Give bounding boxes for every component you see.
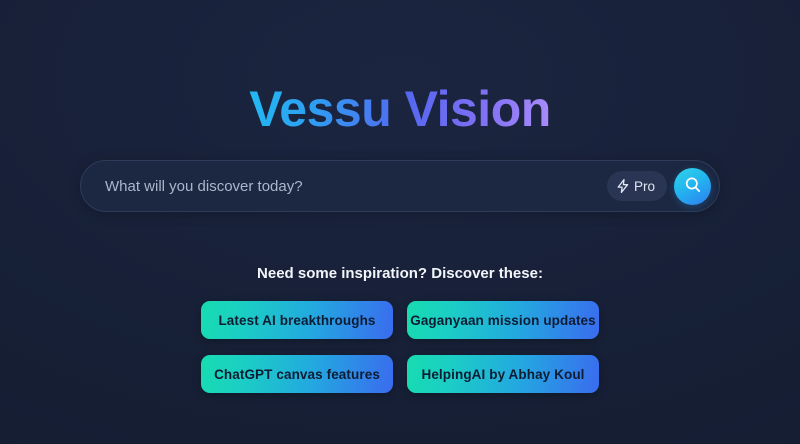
suggestion-chip[interactable]: Latest AI breakthroughs: [201, 301, 393, 339]
inspiration-heading: Need some inspiration? Discover these:: [257, 265, 543, 282]
suggestion-chip[interactable]: Gaganyaan mission updates: [407, 301, 599, 339]
suggestion-chip-list: Latest AI breakthroughs Gaganyaan missio…: [201, 301, 599, 393]
pro-toggle-button[interactable]: Pro: [607, 171, 667, 201]
search-icon: [684, 176, 702, 197]
search-bar[interactable]: Pro: [80, 160, 720, 212]
suggestion-chip[interactable]: HelpingAI by Abhay Koul: [407, 355, 599, 393]
page-title: Vessu Vision: [249, 82, 551, 137]
suggestion-chip[interactable]: ChatGPT canvas features: [201, 355, 393, 393]
lightning-bolt-icon: [617, 179, 629, 193]
search-submit-button[interactable]: [674, 168, 711, 205]
search-input[interactable]: [105, 161, 607, 211]
app-root: Vessu Vision Pro Need some inspiration? …: [0, 0, 800, 444]
pro-label: Pro: [634, 179, 655, 194]
